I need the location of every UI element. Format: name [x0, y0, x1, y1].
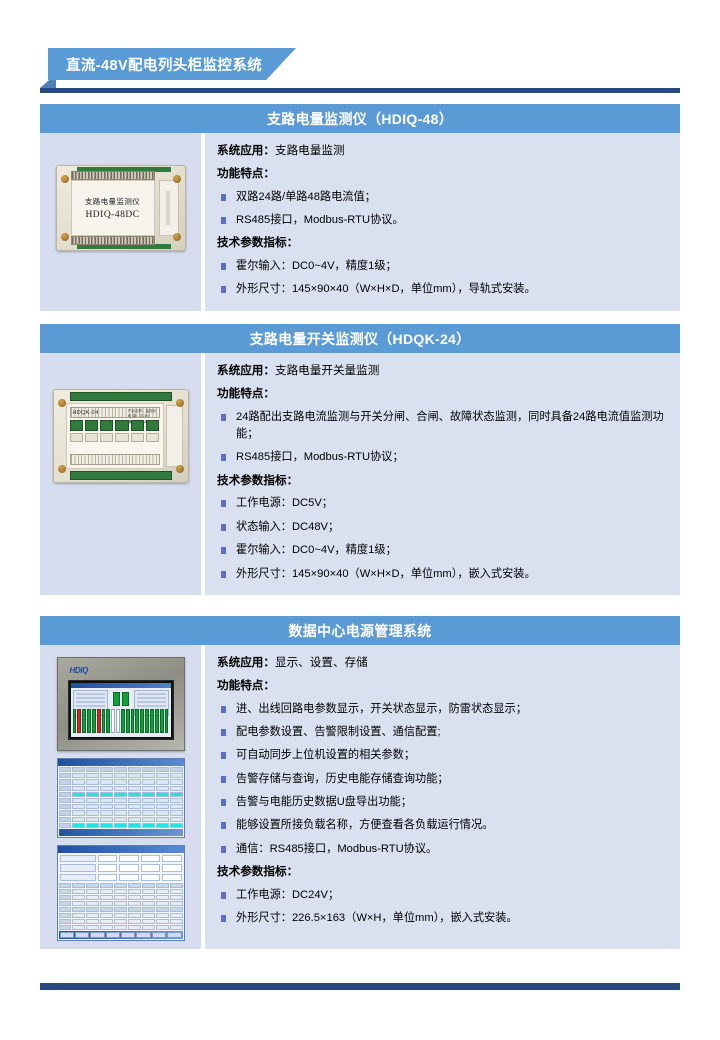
- product-text-cell-dcpms: 系统应用：显示、设置、存储 功能特点： 进、出线回路电参数显示，开关状态显示，防…: [205, 645, 680, 949]
- product-image-cell-hdqk24: HDQK-24 产品名称：监测仪 电 源：DC5V 通 讯：RS485: [40, 353, 201, 595]
- product-body-hdiq48: 支路电量监测仪 HDIQ-48DC 系统应用：支路电量监测 功能特点： 双路24…: [40, 133, 680, 311]
- hmi-titlebar: [71, 683, 171, 688]
- feature-item: 双路24路/单路48路电流值；: [217, 189, 670, 206]
- application-label: 系统应用：: [217, 656, 275, 669]
- channel-bar: [121, 709, 125, 733]
- channel-bar: [116, 709, 120, 733]
- device-side-rail: [159, 180, 179, 236]
- features-label: 功能特点：: [217, 678, 670, 695]
- feature-item: RS485接口，Modbus-RTU协议。: [217, 212, 670, 229]
- settings-form: [60, 855, 182, 881]
- product-block-hdqk24: 支路电量开关监测仪（HDQK-24） HDQK-24 产品名称：监测仪 电 源：…: [40, 324, 680, 595]
- green-connector-icon: [115, 420, 128, 431]
- table-row: [59, 786, 183, 791]
- product-image-cell-dcpms: HDIQ: [40, 645, 201, 949]
- mounting-hole-icon: [61, 233, 69, 241]
- table-row: [59, 823, 183, 828]
- channel-bar: [97, 709, 101, 733]
- product-image-cell-hdiq48: 支路电量监测仪 HDIQ-48DC: [40, 133, 201, 311]
- feature-item: 进、出线回路电参数显示，开关状态显示，防雷状态显示；: [217, 701, 670, 718]
- table-toolbar: [59, 931, 183, 939]
- channel-bar: [106, 709, 110, 733]
- product-block-hdiq48: 支路电量监测仪（HDIQ-48） 支路电量监测仪 HDIQ-48DC 系统应用：…: [40, 104, 680, 311]
- table-row: [59, 798, 183, 803]
- spec-item: 外形尺寸：226.5×163（W×H，单位mm），嵌入式安装。: [217, 910, 670, 927]
- mounting-hole-icon: [58, 465, 66, 473]
- pcb-edge-bottom: [70, 471, 172, 480]
- spec-item: 霍尔输入：DC0~4V，精度1级；: [217, 258, 670, 275]
- application-line: 系统应用：显示、设置、存储: [217, 655, 670, 672]
- table-grid: [59, 767, 183, 828]
- mounting-hole-icon: [58, 399, 66, 407]
- feature-item: 24路配出支路电流监测与开关分闸、合闸、故障状态监测，同时具备24路电流值监测功…: [217, 409, 670, 444]
- feature-item: 可自动同步上位机设置的相关参数；: [217, 747, 670, 764]
- mounting-hole-icon: [173, 175, 181, 183]
- table-titlebar: [58, 846, 184, 853]
- device-model-label: HDQK-24: [73, 410, 99, 416]
- product-body-dcpms: HDIQ: [40, 645, 680, 949]
- hmi-software-ui: [71, 683, 171, 737]
- product-body-hdqk24: HDQK-24 产品名称：监测仪 电 源：DC5V 通 讯：RS485: [40, 353, 680, 595]
- hmi-channel-bars: [73, 711, 169, 733]
- page-banner: 直流-48V配电列头柜监控系统: [0, 48, 720, 93]
- green-connector-icon: [146, 420, 159, 431]
- spec-item: 工作电源：DC24V；: [217, 887, 670, 904]
- terminal-block-top: [71, 171, 155, 180]
- table-row: [59, 779, 183, 784]
- application-value: 显示、设置、存储: [275, 656, 368, 669]
- toolbar-button: [152, 932, 166, 938]
- device-name-label: 支路电量监测仪: [85, 196, 140, 207]
- channel-label: [146, 433, 159, 442]
- screenshot-stack: HDIQ: [57, 653, 185, 941]
- channel-bar: [131, 709, 135, 733]
- product-text-cell-hdiq48: 系统应用：支路电量监测 功能特点： 双路24路/单路48路电流值； RS485接…: [205, 133, 680, 311]
- breaker-status-icon: [113, 692, 120, 706]
- feature-item: 配电参数设置、告警限制设置、通信配置;: [217, 724, 670, 741]
- connector-row: [70, 420, 160, 431]
- channel-label: [100, 433, 113, 442]
- feature-item: 通信：RS485接口，Modbus-RTU协议。: [217, 841, 670, 858]
- hmi-screen: [68, 680, 174, 740]
- brand-logo: HDIQ: [70, 666, 88, 675]
- table-row: [59, 895, 183, 900]
- channel-bar: [87, 709, 91, 733]
- table-row: [59, 773, 183, 778]
- specs-label: 技术参数指标：: [217, 235, 670, 252]
- banner-title: 直流-48V配电列头柜监控系统: [66, 54, 262, 75]
- channel-bar: [135, 709, 139, 733]
- toolbar-button: [75, 932, 89, 938]
- table-titlebar: [58, 759, 184, 766]
- channel-bar: [165, 709, 169, 733]
- specs-label: 技术参数指标：: [217, 473, 670, 490]
- channel-bar: [140, 709, 144, 733]
- product-title-dcpms: 数据中心电源管理系统: [40, 616, 680, 645]
- product-title-hdiq48: 支路电量监测仪（HDIQ-48）: [40, 104, 680, 133]
- features-label: 功能特点：: [217, 166, 670, 183]
- channel-bar: [102, 709, 106, 733]
- mounting-hole-icon: [173, 233, 181, 241]
- breaker-status-icon: [122, 692, 129, 706]
- toolbar-button: [136, 932, 150, 938]
- mounting-hole-icon: [176, 399, 184, 407]
- green-connector-icon: [100, 420, 113, 431]
- spec-item: 工作电源：DC5V；: [217, 495, 670, 512]
- toolbar-button: [60, 932, 74, 938]
- form-row: [60, 855, 182, 862]
- application-label: 系统应用：: [217, 364, 275, 377]
- channel-bar: [126, 709, 130, 733]
- channel-bar: [160, 709, 164, 733]
- channel-bar: [77, 709, 81, 733]
- spec-item: 霍尔输入：DC0~4V，精度1级；: [217, 542, 670, 559]
- channel-bar: [73, 709, 77, 733]
- features-label: 功能特点：: [217, 386, 670, 403]
- product-block-dcpms: 数据中心电源管理系统 HDIQ: [40, 616, 680, 949]
- feature-item: 能够设置所接负载名称，方便查看各负载运行情况。: [217, 817, 670, 834]
- table-row: [59, 883, 183, 888]
- channel-bar: [155, 709, 159, 733]
- table-row: [59, 810, 183, 815]
- table-row: [59, 792, 183, 797]
- device-side-rail: [166, 405, 183, 467]
- table-row: [59, 817, 183, 822]
- application-line: 系统应用：支路电量开关量监测: [217, 363, 670, 380]
- channel-bar: [111, 709, 115, 733]
- spec-item: 外形尺寸：145×90×40（W×H×D，单位mm），嵌入式安装。: [217, 566, 670, 583]
- device-photo-hdqk24: HDQK-24 产品名称：监测仪 电 源：DC5V 通 讯：RS485: [53, 389, 189, 483]
- specs-label: 技术参数指标：: [217, 864, 670, 881]
- toolbar-button: [167, 932, 181, 938]
- pcb-edge-top: [70, 392, 172, 401]
- table-row: [59, 767, 183, 772]
- table-row: [59, 907, 183, 912]
- device-faceplate: HDQK-24 产品名称：监测仪 电 源：DC5V 通 讯：RS485: [66, 403, 164, 469]
- footer-rule: [40, 983, 680, 990]
- channel-label: [85, 433, 98, 442]
- toolbar-button: [121, 932, 135, 938]
- channel-bar: [92, 709, 96, 733]
- software-table-screenshot-2: [57, 845, 185, 941]
- green-connector-icon: [85, 420, 98, 431]
- form-row: [60, 864, 182, 871]
- channel-label: [131, 433, 144, 442]
- channel-label: [70, 433, 83, 442]
- banner-underline-rule: [40, 88, 680, 93]
- application-value: 支路电量开关量监测: [275, 364, 379, 377]
- product-title-hdqk24: 支路电量开关监测仪（HDQK-24）: [40, 324, 680, 353]
- green-connector-icon: [70, 420, 83, 431]
- table-row: [59, 901, 183, 906]
- spec-item: 状态输入：DC48V；: [217, 519, 670, 536]
- table-row: [59, 919, 183, 924]
- table-row: [59, 913, 183, 918]
- feature-item: 告警与电能历史数据U盘导出功能；: [217, 794, 670, 811]
- table-toolbar: [59, 829, 183, 836]
- application-value: 支路电量监测: [275, 144, 345, 157]
- application-line: 系统应用：支路电量监测: [217, 143, 670, 160]
- mounting-hole-icon: [61, 175, 69, 183]
- channel-bar: [145, 709, 149, 733]
- channel-label-row: [70, 433, 160, 442]
- terminal-block-bottom: [71, 236, 155, 245]
- form-row: [60, 874, 182, 881]
- green-connector-icon: [131, 420, 144, 431]
- banner-tab: 直流-48V配电列头柜监控系统: [48, 48, 296, 80]
- device-model-label: HDIQ-48DC: [85, 210, 139, 220]
- channel-bar: [150, 709, 154, 733]
- channel-bar: [82, 709, 86, 733]
- channel-label: [115, 433, 128, 442]
- mounting-hole-icon: [176, 465, 184, 473]
- product-text-cell-hdqk24: 系统应用：支路电量开关量监测 功能特点： 24路配出支路电流监测与开关分闸、合闸…: [205, 353, 680, 595]
- device-faceplate: 支路电量监测仪 HDIQ-48DC: [71, 180, 155, 236]
- table-grid: [59, 883, 183, 930]
- toolbar-button: [90, 932, 104, 938]
- table-row: [59, 804, 183, 809]
- table-row: [59, 925, 183, 930]
- table-row: [59, 889, 183, 894]
- spec-item: 外形尺寸：145×90×40（W×H×D，单位mm），导轨式安装。: [217, 281, 670, 298]
- terminal-strip-bottom: [70, 454, 160, 465]
- feature-item: RS485接口，Modbus-RTU协议；: [217, 449, 670, 466]
- toolbar-button: [106, 932, 120, 938]
- hmi-panel-photo: HDIQ: [57, 657, 185, 751]
- feature-item: 告警存储与查询，历史电能存储查询功能；: [217, 771, 670, 788]
- software-table-screenshot-1: [57, 758, 185, 838]
- device-photo-hdiq48: 支路电量监测仪 HDIQ-48DC: [56, 165, 186, 251]
- application-label: 系统应用：: [217, 144, 275, 157]
